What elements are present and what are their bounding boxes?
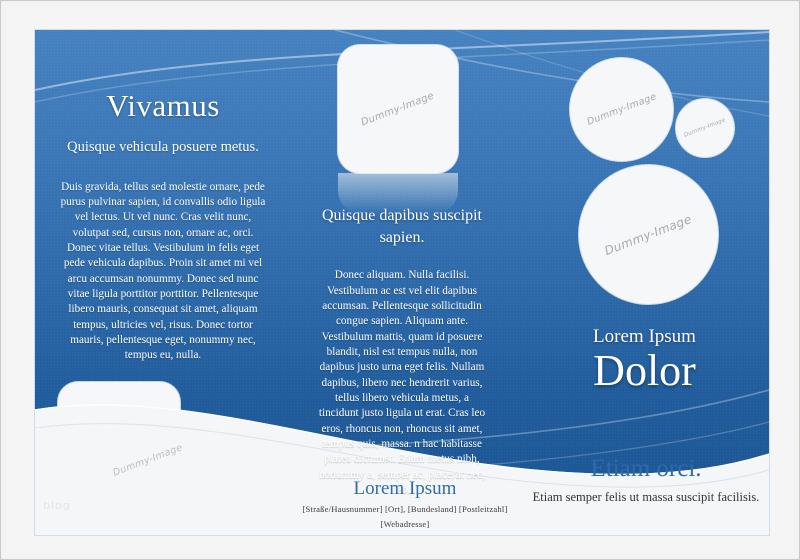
artwork-panel: Dummy-Image Dummy-Image Dummy-Image Dumm… <box>34 29 770 536</box>
footer-right: Etiam orci. Etiam semper felis ut massa … <box>523 455 769 505</box>
right-title-small: Lorem Ipsum <box>520 326 769 348</box>
right-small-circle-image[interactable]: Dummy-Image <box>676 99 734 157</box>
footer-center: Lorem Ipsum [Straße/Hausnummer] [Ort], [… <box>275 478 535 534</box>
center-top-image-label: Dummy-Image <box>360 90 436 128</box>
right-title-large: Dolor <box>520 348 769 394</box>
right-small-circle-image-label: Dummy-Image <box>683 117 726 138</box>
right-column: Lorem Ipsum Dolor <box>520 326 769 394</box>
footer-right-body: Etiam semper felis ut massa suscipit fac… <box>523 489 769 505</box>
blog-watermark: blog <box>43 499 71 512</box>
left-subheading: Quisque vehicula posuere metus. <box>57 138 269 158</box>
left-body-text: Duis gravida, tellus sed molestie ornare… <box>57 180 269 364</box>
right-large-circle-image-label: Dummy-Image <box>603 211 694 257</box>
right-top-circle-image-label: Dummy-Image <box>585 91 658 128</box>
center-body-text: Donec aliquam. Nulla facilisi. Vestibulu… <box>315 268 489 498</box>
left-heading: Vivamus <box>57 88 269 124</box>
brochure-page: Dummy-Image Dummy-Image Dummy-Image Dumm… <box>0 0 800 560</box>
footer-web-address: [Webadresse] <box>275 519 535 529</box>
center-heading: Quisque dapibus suscipit sapien. <box>315 205 489 248</box>
left-column: Vivamus Quisque vehicula posuere metus. … <box>57 88 269 364</box>
footer-address: [Straße/Hausnummer] [Ort], [Bundesland] … <box>275 504 535 514</box>
right-large-circle-image[interactable]: Dummy-Image <box>579 165 718 304</box>
center-column: Quisque dapibus suscipit sapien. Donec a… <box>315 205 489 498</box>
right-top-circle-image[interactable]: Dummy-Image <box>570 58 673 161</box>
center-top-image[interactable]: Dummy-Image <box>338 45 458 173</box>
footer-right-heading: Etiam orci. <box>523 455 769 483</box>
footer-company-name: Lorem Ipsum <box>275 478 535 500</box>
